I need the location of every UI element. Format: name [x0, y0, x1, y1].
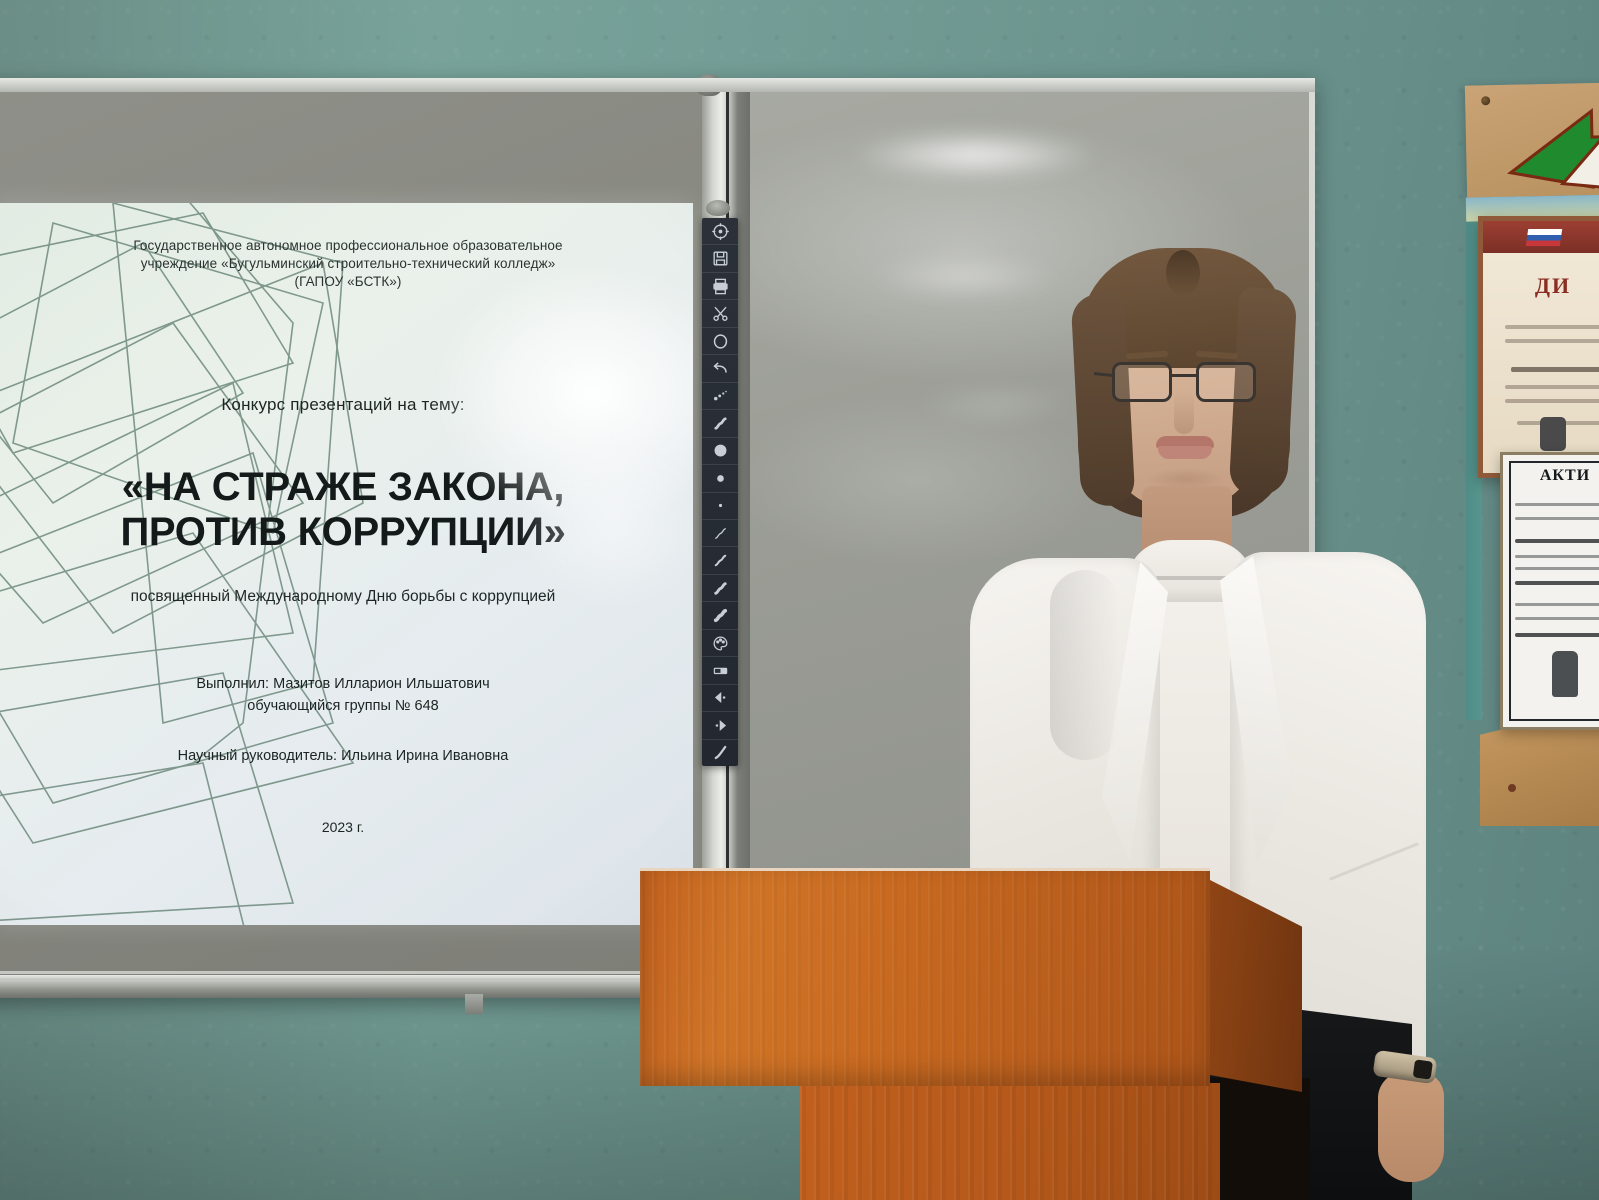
- projected-slide[interactable]: Государственное автономное профессиональ…: [0, 203, 693, 925]
- toolbar-mount-clip: [706, 200, 730, 216]
- poster-text-line: [1515, 581, 1599, 585]
- diploma-banner: [1483, 221, 1599, 253]
- arrow-left-icon[interactable]: [702, 685, 738, 712]
- whiteboard-top-rail: [0, 78, 1315, 92]
- pen-stroke-med-icon[interactable]: [702, 547, 738, 574]
- brush-stroke-icon[interactable]: [702, 602, 738, 629]
- poster-figure-icon: [1552, 651, 1578, 697]
- slide-subtitle: Конкурс презентаций на тему:: [0, 395, 693, 415]
- slide-dedication: посвященный Международному Дню борьбы с …: [0, 588, 693, 606]
- medium-dot-icon[interactable]: [702, 465, 738, 492]
- small-dot-icon[interactable]: [702, 493, 738, 520]
- diploma-seal: [1540, 417, 1566, 451]
- slide-organization-line-2: учреждение «Бугульминский строительно-те…: [23, 255, 673, 272]
- diploma-title: ДИ: [1483, 273, 1599, 299]
- poster-text-line: [1515, 503, 1599, 506]
- poster-text-line: [1515, 567, 1599, 570]
- poster-text-line: [1515, 517, 1599, 520]
- tray-bracket: [465, 994, 483, 1014]
- aktiv-poster-title: АКТИ: [1503, 467, 1599, 485]
- slide-author-group: обучающийся группы № 648: [0, 695, 693, 717]
- print-icon[interactable]: [702, 273, 738, 300]
- hair-part: [1166, 250, 1200, 296]
- diploma-text-line: [1511, 367, 1599, 372]
- lectern-front-panel: [640, 868, 1210, 1086]
- glasses-bridge: [1172, 374, 1196, 377]
- pen-stroke-wide-icon[interactable]: [702, 575, 738, 602]
- lens-left: [1112, 362, 1172, 402]
- pointer-icon[interactable]: [702, 740, 738, 766]
- palette-icon[interactable]: [702, 630, 738, 657]
- diploma-text-line: [1505, 399, 1599, 403]
- emblem-poster: [1465, 82, 1599, 197]
- wood-grain: [640, 871, 1210, 1086]
- shoulder-shadow: [1050, 570, 1120, 760]
- lens-right: [1196, 362, 1256, 402]
- poster-text-line: [1515, 603, 1599, 606]
- slide-supervisor: Научный руководитель: Ильина Ирина Ивано…: [0, 748, 693, 764]
- hand: [1378, 1072, 1444, 1182]
- slide-title-line-1: «НА СТРАЖЕ ЗАКОНА,: [0, 465, 693, 510]
- russian-flag-icon: [1526, 229, 1562, 246]
- aktiv-information-poster: АКТИ: [1500, 452, 1599, 730]
- slide-year: 2023 г.: [0, 819, 693, 835]
- diploma-certificate: ДИ: [1478, 216, 1599, 478]
- poster-text-line: [1515, 539, 1599, 543]
- slide-title-line-2: ПРОТИВ КОРРУПЦИИ»: [0, 510, 693, 555]
- watch-face: [1413, 1059, 1433, 1079]
- dotted-stroke-icon[interactable]: [702, 383, 738, 410]
- lower-lip: [1158, 446, 1212, 459]
- wood-grain: [800, 1083, 1220, 1200]
- diploma-text-line: [1505, 339, 1599, 343]
- thick-dot-icon[interactable]: [702, 438, 738, 465]
- lectern-column: [800, 1083, 1220, 1200]
- lectern-right-face: [1210, 880, 1302, 1092]
- eraser-icon[interactable]: [702, 657, 738, 684]
- slide-author-block: Выполнил: Мазитов Илларион Ильшатович об…: [0, 673, 693, 718]
- diploma-text-line: [1505, 325, 1599, 329]
- nose: [1174, 390, 1194, 434]
- pen-stroke-thin-icon[interactable]: [702, 520, 738, 547]
- pen-stroke-icon[interactable]: [702, 410, 738, 437]
- poster-text-line: [1515, 617, 1599, 620]
- poster-text-line: [1515, 633, 1599, 637]
- slide-main-title: «НА СТРАЖЕ ЗАКОНА, ПРОТИВ КОРРУПЦИИ»: [0, 465, 693, 555]
- slide-organization-line-1: Государственное автономное профессиональ…: [23, 237, 673, 254]
- circle-outline-icon[interactable]: [702, 328, 738, 355]
- diploma-text-line: [1505, 385, 1599, 389]
- wooden-lectern: [640, 868, 1300, 1200]
- slide-organization-line-3: (ГАПОУ «БСТК»): [23, 273, 673, 290]
- poster-text-line: [1515, 555, 1599, 558]
- target-icon[interactable]: [702, 218, 738, 245]
- save-icon[interactable]: [702, 245, 738, 272]
- undo-icon[interactable]: [702, 355, 738, 382]
- classroom-presentation-scene: ДИ АКТИ: [0, 0, 1599, 1200]
- pushpin-icon: [1508, 784, 1516, 792]
- whiteboard-vertical-toolbar[interactable]: [702, 218, 738, 766]
- scissors-icon[interactable]: [702, 300, 738, 327]
- ceiling-light-reflection: [850, 131, 1100, 179]
- slide-author-name: Выполнил: Мазитов Илларион Ильшатович: [0, 673, 693, 695]
- slide-text-content: Государственное автономное профессиональ…: [0, 203, 693, 925]
- arrow-right-icon[interactable]: [702, 712, 738, 739]
